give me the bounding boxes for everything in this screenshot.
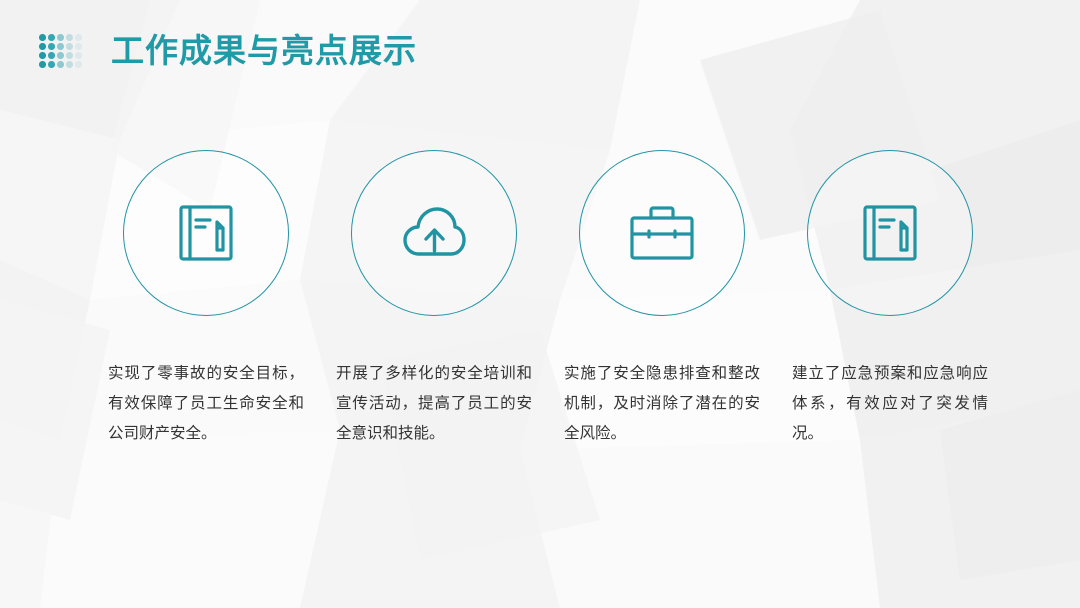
highlight-card: 实现了零事故的安全目标，有效保障了员工生命安全和公司财产安全。 — [92, 150, 320, 448]
dot-cell — [47, 60, 56, 69]
dot-cell — [74, 60, 83, 69]
highlight-card: 开展了多样化的安全培训和宣传活动，提高了员工的安全意识和技能。 — [320, 150, 548, 448]
card-description: 开展了多样化的安全培训和宣传活动，提高了员工的安全意识和技能。 — [336, 358, 532, 448]
briefcase-icon — [628, 204, 696, 262]
icon-circle — [579, 150, 745, 316]
icon-circle — [123, 150, 289, 316]
dot-cell — [65, 33, 74, 42]
cloud-upload-icon — [401, 205, 467, 261]
dot-cell — [74, 42, 83, 51]
icon-circle — [807, 150, 973, 316]
icon-circle — [351, 150, 517, 316]
highlight-card: 实施了安全隐患排查和整改机制，及时消除了潜在的安全风险。 — [548, 150, 776, 448]
dot-cell — [56, 51, 65, 60]
highlight-cards-row: 实现了零事故的安全目标，有效保障了员工生命安全和公司财产安全。 开展了多样化的安… — [92, 150, 1004, 448]
dot-cell — [47, 33, 56, 42]
slide-canvas: 工作成果与亮点展示 实现了零事故的安全目标，有效保障了员工生命安全和公司财产安全… — [0, 0, 1080, 608]
dot-cell — [56, 33, 65, 42]
dot-cell — [47, 51, 56, 60]
notebook-pencil-icon — [859, 202, 921, 264]
notebook-pencil-icon — [175, 202, 237, 264]
dot-cell — [38, 42, 47, 51]
dot-cell — [65, 60, 74, 69]
dot-cell — [74, 33, 83, 42]
dot-cell — [56, 42, 65, 51]
dot-cell — [56, 60, 65, 69]
card-description: 建立了应急预案和应急响应体系，有效应对了突发情况。 — [792, 358, 988, 448]
card-description: 实现了零事故的安全目标，有效保障了员工生命安全和公司财产安全。 — [108, 358, 304, 448]
dot-grid-decoration — [38, 33, 83, 69]
dot-cell — [47, 42, 56, 51]
card-description: 实施了安全隐患排查和整改机制，及时消除了潜在的安全风险。 — [564, 358, 760, 448]
dot-cell — [65, 42, 74, 51]
dot-cell — [38, 60, 47, 69]
dot-cell — [38, 33, 47, 42]
page-title: 工作成果与亮点展示 — [111, 34, 417, 67]
dot-cell — [74, 51, 83, 60]
slide-header: 工作成果与亮点展示 — [38, 22, 417, 78]
dot-cell — [65, 51, 74, 60]
dot-cell — [38, 51, 47, 60]
highlight-card: 建立了应急预案和应急响应体系，有效应对了突发情况。 — [776, 150, 1004, 448]
